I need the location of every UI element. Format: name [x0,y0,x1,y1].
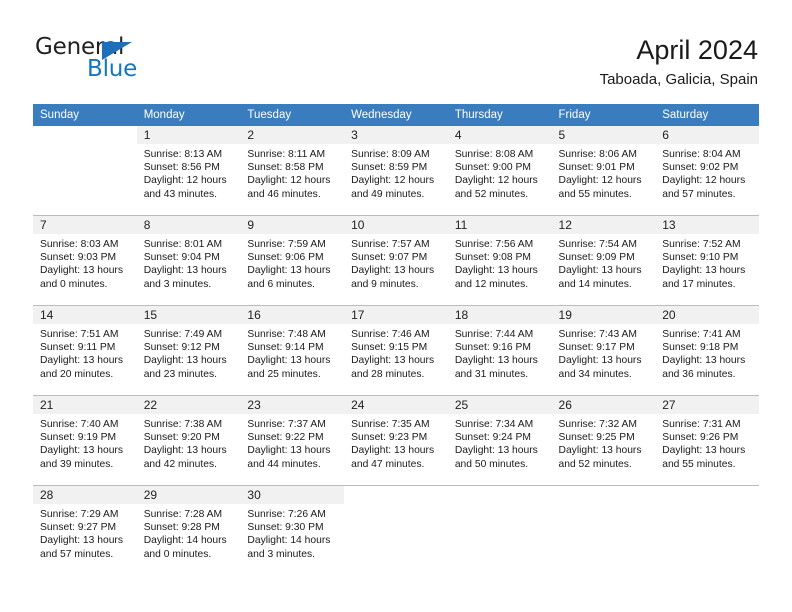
sunset-line: Sunset: 9:08 PM [455,251,547,264]
day-details: Sunrise: 7:37 AM Sunset: 9:22 PM Dayligh… [240,414,344,471]
sunrise-line: Sunrise: 8:08 AM [455,148,547,161]
sunset-line: Sunset: 9:23 PM [351,431,443,444]
sunset-line: Sunset: 9:09 PM [559,251,651,264]
sunset-line: Sunset: 9:25 PM [559,431,651,444]
day-number: 17 [344,306,448,324]
day-cell-inner: 5 Sunrise: 8:06 AM Sunset: 9:01 PM Dayli… [552,126,656,215]
daylight-line-1: Daylight: 13 hours [144,264,236,277]
sunrise-line: Sunrise: 7:28 AM [144,508,236,521]
week-row: 1 Sunrise: 8:13 AM Sunset: 8:56 PM Dayli… [33,126,759,216]
sunrise-line: Sunrise: 8:03 AM [40,238,132,251]
sunset-line: Sunset: 9:04 PM [144,251,236,264]
day-cell-inner: 3 Sunrise: 8:09 AM Sunset: 8:59 PM Dayli… [344,126,448,215]
daylight-line-1: Daylight: 13 hours [144,444,236,457]
day-cell[interactable] [552,486,656,576]
day-number: 25 [448,396,552,414]
day-number: 3 [344,126,448,144]
sunrise-line: Sunrise: 7:38 AM [144,418,236,431]
daylight-line-1: Daylight: 12 hours [662,174,754,187]
day-cell-inner [655,486,759,575]
day-cell[interactable]: 12 Sunrise: 7:54 AM Sunset: 9:09 PM Dayl… [552,216,656,306]
sunset-line: Sunset: 9:06 PM [247,251,339,264]
sunset-line: Sunset: 9:26 PM [662,431,754,444]
weekday-header-sunday: Sunday [33,104,137,126]
day-cell[interactable]: 24 Sunrise: 7:35 AM Sunset: 9:23 PM Dayl… [344,396,448,486]
daylight-line-2: and 44 minutes. [247,458,339,471]
title-block: April 2024 Taboada, Galicia, Spain [600,34,758,90]
sunrise-line: Sunrise: 8:04 AM [662,148,754,161]
day-cell[interactable]: 13 Sunrise: 7:52 AM Sunset: 9:10 PM Dayl… [655,216,759,306]
sunrise-line: Sunrise: 7:44 AM [455,328,547,341]
day-cell-inner: 25 Sunrise: 7:34 AM Sunset: 9:24 PM Dayl… [448,396,552,485]
day-cell-inner: 18 Sunrise: 7:44 AM Sunset: 9:16 PM Dayl… [448,306,552,395]
day-details: Sunrise: 8:06 AM Sunset: 9:01 PM Dayligh… [552,144,656,201]
day-number: 8 [137,216,241,234]
day-number [655,486,759,504]
day-details: Sunrise: 7:49 AM Sunset: 9:12 PM Dayligh… [137,324,241,381]
general-blue-logo[interactable]: General Blue [35,36,215,88]
day-cell[interactable]: 8 Sunrise: 8:01 AM Sunset: 9:04 PM Dayli… [137,216,241,306]
day-cell[interactable] [448,486,552,576]
day-number: 22 [137,396,241,414]
page-subtitle-location: Taboada, Galicia, Spain [600,70,758,90]
sunset-line: Sunset: 9:28 PM [144,521,236,534]
day-cell-inner: 26 Sunrise: 7:32 AM Sunset: 9:25 PM Dayl… [552,396,656,485]
day-cell-inner: 1 Sunrise: 8:13 AM Sunset: 8:56 PM Dayli… [137,126,241,215]
sunrise-line: Sunrise: 7:49 AM [144,328,236,341]
sunset-line: Sunset: 9:17 PM [559,341,651,354]
daylight-line-1: Daylight: 13 hours [455,444,547,457]
sunset-line: Sunset: 9:19 PM [40,431,132,444]
daylight-line-1: Daylight: 14 hours [144,534,236,547]
day-cell[interactable]: 3 Sunrise: 8:09 AM Sunset: 8:59 PM Dayli… [344,126,448,216]
day-cell-inner: 16 Sunrise: 7:48 AM Sunset: 9:14 PM Dayl… [240,306,344,395]
day-number [344,486,448,504]
day-details [552,504,656,508]
day-number [448,486,552,504]
sunrise-line: Sunrise: 8:06 AM [559,148,651,161]
daylight-line-1: Daylight: 13 hours [40,354,132,367]
day-cell[interactable]: 29 Sunrise: 7:28 AM Sunset: 9:28 PM Dayl… [137,486,241,576]
daylight-line-2: and 3 minutes. [247,548,339,561]
day-details: Sunrise: 8:13 AM Sunset: 8:56 PM Dayligh… [137,144,241,201]
sunrise-line: Sunrise: 7:46 AM [351,328,443,341]
daylight-line-2: and 0 minutes. [144,548,236,561]
day-details: Sunrise: 7:26 AM Sunset: 9:30 PM Dayligh… [240,504,344,561]
day-details: Sunrise: 7:56 AM Sunset: 9:08 PM Dayligh… [448,234,552,291]
page-header: General Blue April 2024 Taboada, Galicia… [0,0,792,98]
sunset-line: Sunset: 9:24 PM [455,431,547,444]
day-cell-inner: 6 Sunrise: 8:04 AM Sunset: 9:02 PM Dayli… [655,126,759,215]
day-cell[interactable]: 23 Sunrise: 7:37 AM Sunset: 9:22 PM Dayl… [240,396,344,486]
day-details: Sunrise: 7:29 AM Sunset: 9:27 PM Dayligh… [33,504,137,561]
day-cell-inner: 13 Sunrise: 7:52 AM Sunset: 9:10 PM Dayl… [655,216,759,305]
day-cell-inner: 4 Sunrise: 8:08 AM Sunset: 9:00 PM Dayli… [448,126,552,215]
day-cell-inner: 17 Sunrise: 7:46 AM Sunset: 9:15 PM Dayl… [344,306,448,395]
day-number: 2 [240,126,344,144]
daylight-line-2: and 17 minutes. [662,278,754,291]
day-cell[interactable] [655,486,759,576]
sunrise-line: Sunrise: 7:32 AM [559,418,651,431]
sunset-line: Sunset: 9:11 PM [40,341,132,354]
day-details: Sunrise: 7:35 AM Sunset: 9:23 PM Dayligh… [344,414,448,471]
sunrise-line: Sunrise: 7:51 AM [40,328,132,341]
day-cell-inner [552,486,656,575]
day-number: 19 [552,306,656,324]
sunset-line: Sunset: 8:59 PM [351,161,443,174]
day-details: Sunrise: 8:08 AM Sunset: 9:00 PM Dayligh… [448,144,552,201]
day-details: Sunrise: 7:41 AM Sunset: 9:18 PM Dayligh… [655,324,759,381]
day-details [33,144,137,148]
day-cell-inner: 28 Sunrise: 7:29 AM Sunset: 9:27 PM Dayl… [33,486,137,575]
day-number: 4 [448,126,552,144]
day-cell-inner: 23 Sunrise: 7:37 AM Sunset: 9:22 PM Dayl… [240,396,344,485]
week-row: 7 Sunrise: 8:03 AM Sunset: 9:03 PM Dayli… [33,216,759,306]
day-details: Sunrise: 7:28 AM Sunset: 9:28 PM Dayligh… [137,504,241,561]
sunrise-line: Sunrise: 7:31 AM [662,418,754,431]
day-cell[interactable]: 9 Sunrise: 7:59 AM Sunset: 9:06 PM Dayli… [240,216,344,306]
day-details: Sunrise: 7:43 AM Sunset: 9:17 PM Dayligh… [552,324,656,381]
daylight-line-2: and 36 minutes. [662,368,754,381]
day-number: 23 [240,396,344,414]
day-number: 18 [448,306,552,324]
sunrise-line: Sunrise: 7:56 AM [455,238,547,251]
daylight-line-2: and 50 minutes. [455,458,547,471]
day-details: Sunrise: 8:11 AM Sunset: 8:58 PM Dayligh… [240,144,344,201]
day-cell[interactable]: 30 Sunrise: 7:26 AM Sunset: 9:30 PM Dayl… [240,486,344,576]
daylight-line-1: Daylight: 13 hours [455,354,547,367]
day-number: 20 [655,306,759,324]
page-title: April 2024 [600,34,758,66]
sunset-line: Sunset: 9:18 PM [662,341,754,354]
daylight-line-2: and 23 minutes. [144,368,236,381]
day-cell[interactable]: 2 Sunrise: 8:11 AM Sunset: 8:58 PM Dayli… [240,126,344,216]
daylight-line-2: and 20 minutes. [40,368,132,381]
daylight-line-1: Daylight: 13 hours [351,354,443,367]
day-cell-inner: 12 Sunrise: 7:54 AM Sunset: 9:09 PM Dayl… [552,216,656,305]
daylight-line-1: Daylight: 13 hours [559,354,651,367]
sunset-line: Sunset: 9:15 PM [351,341,443,354]
week-row: 21 Sunrise: 7:40 AM Sunset: 9:19 PM Dayl… [33,396,759,486]
day-cell-inner: 22 Sunrise: 7:38 AM Sunset: 9:20 PM Dayl… [137,396,241,485]
daylight-line-2: and 55 minutes. [662,458,754,471]
daylight-line-1: Daylight: 13 hours [662,354,754,367]
day-cell-inner: 2 Sunrise: 8:11 AM Sunset: 8:58 PM Dayli… [240,126,344,215]
daylight-line-1: Daylight: 12 hours [351,174,443,187]
sunrise-line: Sunrise: 7:29 AM [40,508,132,521]
day-cell-inner: 10 Sunrise: 7:57 AM Sunset: 9:07 PM Dayl… [344,216,448,305]
day-cell[interactable]: 5 Sunrise: 8:06 AM Sunset: 9:01 PM Dayli… [552,126,656,216]
day-number: 21 [33,396,137,414]
sunrise-line: Sunrise: 7:37 AM [247,418,339,431]
daylight-line-2: and 9 minutes. [351,278,443,291]
day-cell-inner [448,486,552,575]
daylight-line-1: Daylight: 12 hours [144,174,236,187]
weekday-header-saturday: Saturday [655,104,759,126]
sunrise-line: Sunrise: 7:59 AM [247,238,339,251]
sunset-line: Sunset: 9:01 PM [559,161,651,174]
day-cell[interactable] [33,126,137,216]
daylight-line-2: and 31 minutes. [455,368,547,381]
day-cell[interactable]: 27 Sunrise: 7:31 AM Sunset: 9:26 PM Dayl… [655,396,759,486]
sunrise-line: Sunrise: 7:26 AM [247,508,339,521]
day-details: Sunrise: 7:54 AM Sunset: 9:09 PM Dayligh… [552,234,656,291]
sunrise-line: Sunrise: 7:35 AM [351,418,443,431]
day-number: 1 [137,126,241,144]
daylight-line-1: Daylight: 13 hours [40,534,132,547]
day-cell-inner: 7 Sunrise: 8:03 AM Sunset: 9:03 PM Dayli… [33,216,137,305]
day-number: 11 [448,216,552,234]
daylight-line-1: Daylight: 13 hours [559,264,651,277]
day-details: Sunrise: 7:46 AM Sunset: 9:15 PM Dayligh… [344,324,448,381]
day-cell[interactable]: 21 Sunrise: 7:40 AM Sunset: 9:19 PM Dayl… [33,396,137,486]
daylight-line-2: and 34 minutes. [559,368,651,381]
daylight-line-1: Daylight: 13 hours [662,264,754,277]
sunrise-line: Sunrise: 7:43 AM [559,328,651,341]
sunset-line: Sunset: 9:14 PM [247,341,339,354]
day-details: Sunrise: 7:57 AM Sunset: 9:07 PM Dayligh… [344,234,448,291]
day-details: Sunrise: 8:04 AM Sunset: 9:02 PM Dayligh… [655,144,759,201]
day-cell[interactable]: 28 Sunrise: 7:29 AM Sunset: 9:27 PM Dayl… [33,486,137,576]
day-details [655,504,759,508]
logo-text-blue: Blue [87,58,137,81]
day-cell[interactable]: 26 Sunrise: 7:32 AM Sunset: 9:25 PM Dayl… [552,396,656,486]
day-cell[interactable]: 7 Sunrise: 8:03 AM Sunset: 9:03 PM Dayli… [33,216,137,306]
weekday-header-thursday: Thursday [448,104,552,126]
day-number: 15 [137,306,241,324]
daylight-line-1: Daylight: 12 hours [559,174,651,187]
daylight-line-1: Daylight: 13 hours [247,354,339,367]
daylight-line-2: and 52 minutes. [455,188,547,201]
sunrise-line: Sunrise: 8:13 AM [144,148,236,161]
weekday-header-monday: Monday [137,104,241,126]
day-cell-inner [33,126,137,215]
day-number: 28 [33,486,137,504]
daylight-line-2: and 42 minutes. [144,458,236,471]
sunset-line: Sunset: 9:07 PM [351,251,443,264]
daylight-line-2: and 46 minutes. [247,188,339,201]
daylight-line-2: and 43 minutes. [144,188,236,201]
day-cell-inner: 19 Sunrise: 7:43 AM Sunset: 9:17 PM Dayl… [552,306,656,395]
day-number: 7 [33,216,137,234]
weekday-header-tuesday: Tuesday [240,104,344,126]
daylight-line-1: Daylight: 14 hours [247,534,339,547]
day-cell[interactable]: 11 Sunrise: 7:56 AM Sunset: 9:08 PM Dayl… [448,216,552,306]
daylight-line-2: and 25 minutes. [247,368,339,381]
day-cell-inner: 11 Sunrise: 7:56 AM Sunset: 9:08 PM Dayl… [448,216,552,305]
day-details: Sunrise: 7:48 AM Sunset: 9:14 PM Dayligh… [240,324,344,381]
day-cell-inner: 30 Sunrise: 7:26 AM Sunset: 9:30 PM Dayl… [240,486,344,575]
sunset-line: Sunset: 9:03 PM [40,251,132,264]
day-details: Sunrise: 7:40 AM Sunset: 9:19 PM Dayligh… [33,414,137,471]
daylight-line-2: and 52 minutes. [559,458,651,471]
day-cell-inner: 8 Sunrise: 8:01 AM Sunset: 9:04 PM Dayli… [137,216,241,305]
daylight-line-2: and 39 minutes. [40,458,132,471]
sunset-line: Sunset: 9:02 PM [662,161,754,174]
day-number: 24 [344,396,448,414]
calendar-body: 1 Sunrise: 8:13 AM Sunset: 8:56 PM Dayli… [33,126,759,575]
daylight-line-1: Daylight: 13 hours [559,444,651,457]
daylight-line-1: Daylight: 13 hours [247,264,339,277]
day-number: 14 [33,306,137,324]
daylight-line-1: Daylight: 13 hours [351,444,443,457]
daylight-line-2: and 57 minutes. [662,188,754,201]
sunset-line: Sunset: 9:20 PM [144,431,236,444]
day-cell-inner: 21 Sunrise: 7:40 AM Sunset: 9:19 PM Dayl… [33,396,137,485]
day-number: 12 [552,216,656,234]
day-cell[interactable]: 18 Sunrise: 7:44 AM Sunset: 9:16 PM Dayl… [448,306,552,396]
day-details [344,504,448,508]
sunrise-line: Sunrise: 8:11 AM [247,148,339,161]
sunset-line: Sunset: 8:56 PM [144,161,236,174]
day-number: 16 [240,306,344,324]
sunrise-line: Sunrise: 8:09 AM [351,148,443,161]
daylight-line-1: Daylight: 13 hours [40,264,132,277]
week-row: 28 Sunrise: 7:29 AM Sunset: 9:27 PM Dayl… [33,486,759,576]
sunset-line: Sunset: 9:10 PM [662,251,754,264]
day-number: 5 [552,126,656,144]
weekday-header-friday: Friday [552,104,656,126]
day-details: Sunrise: 7:34 AM Sunset: 9:24 PM Dayligh… [448,414,552,471]
day-details: Sunrise: 8:03 AM Sunset: 9:03 PM Dayligh… [33,234,137,291]
day-details [448,504,552,508]
day-cell-inner: 20 Sunrise: 7:41 AM Sunset: 9:18 PM Dayl… [655,306,759,395]
sunset-line: Sunset: 9:30 PM [247,521,339,534]
sunrise-line: Sunrise: 7:34 AM [455,418,547,431]
day-details: Sunrise: 7:38 AM Sunset: 9:20 PM Dayligh… [137,414,241,471]
day-cell-inner: 24 Sunrise: 7:35 AM Sunset: 9:23 PM Dayl… [344,396,448,485]
daylight-line-1: Daylight: 13 hours [144,354,236,367]
day-number: 10 [344,216,448,234]
calendar-header-row: Sunday Monday Tuesday Wednesday Thursday… [33,104,759,126]
day-number: 6 [655,126,759,144]
day-number: 9 [240,216,344,234]
sunset-line: Sunset: 9:12 PM [144,341,236,354]
daylight-line-2: and 6 minutes. [247,278,339,291]
daylight-line-2: and 47 minutes. [351,458,443,471]
sunrise-line: Sunrise: 7:41 AM [662,328,754,341]
day-number [552,486,656,504]
daylight-line-2: and 14 minutes. [559,278,651,291]
daylight-line-1: Daylight: 12 hours [455,174,547,187]
sunrise-line: Sunrise: 7:48 AM [247,328,339,341]
daylight-line-2: and 3 minutes. [144,278,236,291]
day-details: Sunrise: 7:31 AM Sunset: 9:26 PM Dayligh… [655,414,759,471]
day-details: Sunrise: 7:32 AM Sunset: 9:25 PM Dayligh… [552,414,656,471]
day-cell[interactable]: 17 Sunrise: 7:46 AM Sunset: 9:15 PM Dayl… [344,306,448,396]
day-number: 26 [552,396,656,414]
month-calendar-table: Sunday Monday Tuesday Wednesday Thursday… [33,104,759,575]
daylight-line-1: Daylight: 13 hours [40,444,132,457]
day-details: Sunrise: 7:44 AM Sunset: 9:16 PM Dayligh… [448,324,552,381]
day-details: Sunrise: 8:01 AM Sunset: 9:04 PM Dayligh… [137,234,241,291]
daylight-line-2: and 28 minutes. [351,368,443,381]
sunset-line: Sunset: 8:58 PM [247,161,339,174]
sunset-line: Sunset: 9:22 PM [247,431,339,444]
day-cell-inner: 27 Sunrise: 7:31 AM Sunset: 9:26 PM Dayl… [655,396,759,485]
day-cell[interactable]: 14 Sunrise: 7:51 AM Sunset: 9:11 PM Dayl… [33,306,137,396]
day-cell-inner: 14 Sunrise: 7:51 AM Sunset: 9:11 PM Dayl… [33,306,137,395]
day-cell[interactable]: 22 Sunrise: 7:38 AM Sunset: 9:20 PM Dayl… [137,396,241,486]
sunrise-line: Sunrise: 8:01 AM [144,238,236,251]
sunrise-line: Sunrise: 7:54 AM [559,238,651,251]
day-details: Sunrise: 8:09 AM Sunset: 8:59 PM Dayligh… [344,144,448,201]
day-cell[interactable]: 19 Sunrise: 7:43 AM Sunset: 9:17 PM Dayl… [552,306,656,396]
daylight-line-2: and 0 minutes. [40,278,132,291]
day-details: Sunrise: 7:59 AM Sunset: 9:06 PM Dayligh… [240,234,344,291]
daylight-line-1: Daylight: 12 hours [247,174,339,187]
sunrise-line: Sunrise: 7:57 AM [351,238,443,251]
daylight-line-1: Daylight: 13 hours [455,264,547,277]
day-cell-inner: 15 Sunrise: 7:49 AM Sunset: 9:12 PM Dayl… [137,306,241,395]
weekday-header-wednesday: Wednesday [344,104,448,126]
day-number: 30 [240,486,344,504]
daylight-line-2: and 55 minutes. [559,188,651,201]
day-details: Sunrise: 7:52 AM Sunset: 9:10 PM Dayligh… [655,234,759,291]
day-cell[interactable]: 10 Sunrise: 7:57 AM Sunset: 9:07 PM Dayl… [344,216,448,306]
day-number [33,126,137,144]
day-cell-inner: 9 Sunrise: 7:59 AM Sunset: 9:06 PM Dayli… [240,216,344,305]
daylight-line-1: Daylight: 13 hours [662,444,754,457]
day-number: 27 [655,396,759,414]
calendar-page: General Blue April 2024 Taboada, Galicia… [0,0,792,612]
day-cell[interactable]: 6 Sunrise: 8:04 AM Sunset: 9:02 PM Dayli… [655,126,759,216]
daylight-line-2: and 12 minutes. [455,278,547,291]
sunset-line: Sunset: 9:16 PM [455,341,547,354]
day-cell[interactable]: 16 Sunrise: 7:48 AM Sunset: 9:14 PM Dayl… [240,306,344,396]
sunset-line: Sunset: 9:27 PM [40,521,132,534]
day-cell[interactable]: 1 Sunrise: 8:13 AM Sunset: 8:56 PM Dayli… [137,126,241,216]
day-cell-inner [344,486,448,575]
daylight-line-1: Daylight: 13 hours [351,264,443,277]
daylight-line-1: Daylight: 13 hours [247,444,339,457]
day-number: 29 [137,486,241,504]
daylight-line-2: and 49 minutes. [351,188,443,201]
day-cell[interactable]: 25 Sunrise: 7:34 AM Sunset: 9:24 PM Dayl… [448,396,552,486]
day-cell[interactable]: 15 Sunrise: 7:49 AM Sunset: 9:12 PM Dayl… [137,306,241,396]
sunrise-line: Sunrise: 7:52 AM [662,238,754,251]
sunrise-line: Sunrise: 7:40 AM [40,418,132,431]
day-cell[interactable]: 4 Sunrise: 8:08 AM Sunset: 9:00 PM Dayli… [448,126,552,216]
week-row: 14 Sunrise: 7:51 AM Sunset: 9:11 PM Dayl… [33,306,759,396]
daylight-line-2: and 57 minutes. [40,548,132,561]
day-number: 13 [655,216,759,234]
day-cell[interactable] [344,486,448,576]
sunset-line: Sunset: 9:00 PM [455,161,547,174]
day-cell-inner: 29 Sunrise: 7:28 AM Sunset: 9:28 PM Dayl… [137,486,241,575]
day-details: Sunrise: 7:51 AM Sunset: 9:11 PM Dayligh… [33,324,137,381]
day-cell[interactable]: 20 Sunrise: 7:41 AM Sunset: 9:18 PM Dayl… [655,306,759,396]
